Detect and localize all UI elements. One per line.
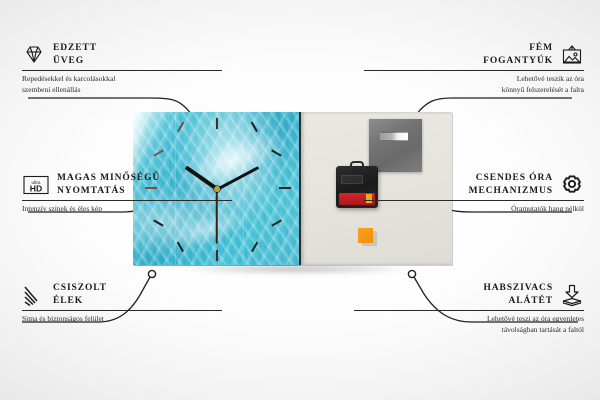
diamond-icon: [22, 43, 46, 67]
picture-frame-icon: [560, 43, 584, 67]
feature-divider: [364, 70, 584, 71]
feature-title-line1: FÉM: [483, 42, 553, 55]
ultra-hd-large-label: HD: [30, 183, 42, 193]
mechanism-slot: [341, 175, 363, 184]
clock-tick: [279, 187, 291, 189]
feature-tempered-glass: EDZETT ÜVEG Repedésekkel és karcolásokka…: [22, 42, 222, 96]
feature-title-line1: MAGAS MINŐSÉGŰ: [57, 172, 160, 185]
infographic-stage: EDZETT ÜVEG Repedésekkel és karcolásokka…: [0, 0, 600, 400]
feature-title-line2: ÜVEG: [53, 55, 97, 68]
feature-header: HABSZIVACS ALÁTÉT: [354, 282, 584, 307]
feature-high-quality-print: ultra HD MAGAS MINŐSÉGŰ NYOMTATÁS Intenz…: [22, 172, 232, 215]
feature-header: ultra HD MAGAS MINŐSÉGŰ NYOMTATÁS: [22, 172, 232, 197]
feature-title-line1: CSISZOLT: [53, 282, 107, 295]
clock-tick: [216, 118, 218, 129]
feature-title-line1: HABSZIVACS: [483, 282, 553, 295]
clock-tick: [216, 250, 218, 261]
feature-title-line2: ALÁTÉT: [483, 295, 553, 308]
feature-header: FÉM FOGANTYÚK: [364, 42, 584, 67]
diagonal-lines-icon: [22, 283, 46, 307]
feature-divider: [364, 200, 584, 201]
mechanism-hanger-tab: [350, 161, 364, 168]
feature-desc-line2: könnyű felszerelését a falra: [364, 85, 584, 96]
feature-desc-line1: Lehetővé teszik az óra: [364, 74, 584, 85]
metal-hanger-plate: [369, 119, 422, 172]
feature-desc-line1: Sima és biztonságos felület: [22, 314, 222, 325]
feature-title-line2: FOGANTYÚK: [483, 55, 553, 68]
feature-divider: [22, 200, 232, 201]
feature-divider: [354, 310, 584, 311]
feature-title-line1: CSENDES ÓRA: [469, 172, 553, 185]
feature-metal-handles: FÉM FOGANTYÚK Lehetővé teszik az óra kön…: [364, 42, 584, 96]
foam-pad: [358, 228, 373, 243]
feature-desc-line1: Lehetővé teszi az óra egyenletes: [354, 314, 584, 325]
feature-foam-pad: HABSZIVACS ALÁTÉT Lehetővé teszi az óra …: [354, 282, 584, 336]
feature-header: CSENDES ÓRA MECHANIZMUS: [364, 172, 584, 197]
feature-desc-line1: Intenzív színek és éles kép: [22, 204, 232, 215]
feature-header: EDZETT ÜVEG: [22, 42, 222, 67]
feature-header: CSISZOLT ÉLEK: [22, 282, 222, 307]
arrow-down-layers-icon: [560, 283, 584, 307]
feature-desc-line2: szembeni ellenállás: [22, 85, 222, 96]
feature-divider: [22, 310, 222, 311]
ultra-hd-icon: ultra HD: [22, 173, 50, 197]
feature-desc-line1: Repedésekkel és karcolásokkal: [22, 74, 222, 85]
feature-divider: [22, 70, 222, 71]
feature-polished-edges: CSISZOLT ÉLEK Sima és biztonságos felüle…: [22, 282, 222, 325]
feature-title-line2: NYOMTATÁS: [57, 185, 160, 198]
feature-title-line2: MECHANIZMUS: [469, 185, 553, 198]
glass-seam: [243, 112, 244, 265]
feature-title-line1: EDZETT: [53, 42, 97, 55]
feature-title-line2: ÉLEK: [53, 295, 107, 308]
feature-silent-mechanism: CSENDES ÓRA MECHANIZMUS Óramutatók hang …: [364, 172, 584, 215]
feature-desc-line1: Óramutatók hang nélkül: [364, 204, 584, 215]
feature-desc-line2: távolságban tartását a faltól: [354, 325, 584, 336]
gear-icon: [560, 173, 584, 197]
